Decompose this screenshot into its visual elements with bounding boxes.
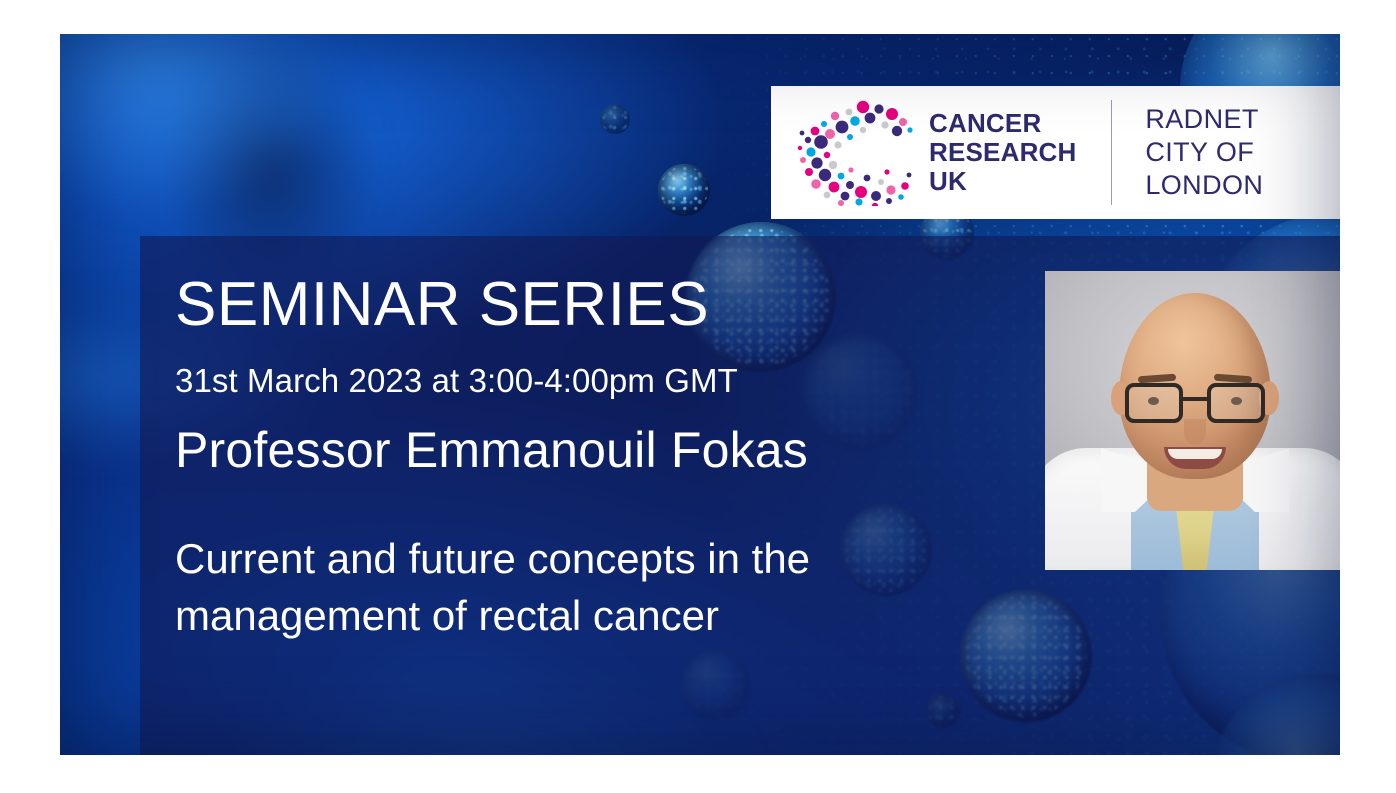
seminar-text-block: SEMINAR SERIES 31st March 2023 at 3:00-4… [175, 274, 1055, 644]
talk-title: Current and future concepts in the manag… [175, 531, 1055, 644]
logo-lockup: CANCER RESEARCH UK RADNET CITY OF LONDON [771, 86, 1340, 219]
cell-top-left-small [600, 104, 630, 134]
portrait-glasses-bridge [1181, 397, 1209, 401]
logo-divider [1111, 100, 1112, 205]
portrait-lens-right [1207, 383, 1265, 423]
portrait-lens-left [1125, 383, 1183, 423]
seminar-banner: CANCER RESEARCH UK RADNET CITY OF LONDON… [60, 34, 1340, 755]
cell-upper-mid [658, 164, 710, 216]
speaker-portrait [1045, 271, 1340, 570]
cancer-research-uk-wordmark: CANCER RESEARCH UK [929, 109, 1077, 196]
series-heading: SEMINAR SERIES [175, 274, 1055, 336]
event-datetime: 31st March 2023 at 3:00-4:00pm GMT [175, 362, 1055, 400]
speaker-name: Professor Emmanouil Fokas [175, 424, 1055, 477]
portrait-nose [1184, 419, 1206, 445]
radnet-city-of-london-wordmark: RADNET CITY OF LONDON [1145, 103, 1340, 202]
cancer-research-uk-dot-c-logo [797, 100, 913, 206]
portrait-teeth [1168, 449, 1222, 459]
